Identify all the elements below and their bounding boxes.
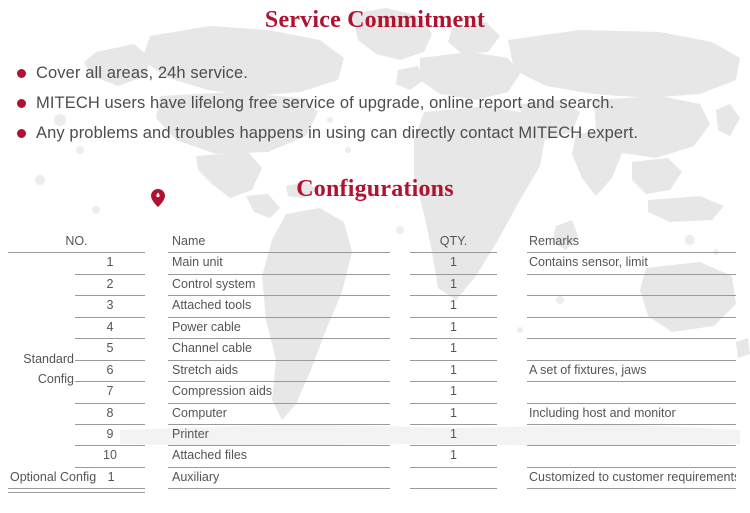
- cell-no: 4: [75, 318, 145, 339]
- cell-remarks: [527, 275, 736, 296]
- table-row-optional: Optional Config 1 Auxiliary Customized t…: [0, 468, 750, 489]
- cell-name: Attached files: [168, 446, 390, 467]
- cell-qty: 1: [410, 296, 497, 317]
- cell-name: Control system: [168, 275, 390, 296]
- standard-config-label: Standard Config: [4, 349, 74, 389]
- cell-no: 5: [75, 339, 145, 360]
- cell-no: 6: [75, 361, 145, 382]
- table-row: 9 Printer 1: [0, 425, 750, 446]
- cell-qty: [410, 468, 497, 489]
- table-row: 3 Attached tools 1: [0, 296, 750, 317]
- cell-no: 9: [75, 425, 145, 446]
- cell-name: Printer: [168, 425, 390, 446]
- cell-qty: 1: [410, 425, 497, 446]
- cell-remarks: Customized to customer requirements: [527, 468, 736, 489]
- cell-remarks: [527, 339, 736, 360]
- cell-name: Power cable: [168, 318, 390, 339]
- configurations-table: NO. Name QTY. Remarks 1 Main unit 1 Cont…: [0, 232, 750, 493]
- page-content: Service Commitment Cover all areas, 24h …: [0, 0, 750, 513]
- column-header-no: NO.: [8, 232, 145, 253]
- commitment-list: Cover all areas, 24h service. MITECH use…: [0, 58, 750, 148]
- commitment-text: MITECH users have lifelong free service …: [36, 94, 614, 113]
- table-header-row: NO. Name QTY. Remarks: [0, 232, 750, 253]
- table-row: 7 Compression aids 1: [0, 382, 750, 403]
- cell-no: 1: [75, 253, 145, 274]
- bullet-dot-icon: [17, 69, 26, 78]
- table-row: 1 Main unit 1 Contains sensor, limit: [0, 253, 750, 274]
- cell-name: Stretch aids: [168, 361, 390, 382]
- cell-remarks: [527, 382, 736, 403]
- cell-qty: 1: [410, 339, 497, 360]
- cell-qty: 1: [410, 361, 497, 382]
- list-item: MITECH users have lifelong free service …: [0, 88, 750, 118]
- cell-no: 3: [75, 296, 145, 317]
- cell-qty: 1: [410, 404, 497, 425]
- optional-config-label: Optional Config: [10, 470, 96, 484]
- list-item: Cover all areas, 24h service.: [0, 58, 750, 88]
- cell-no: 7: [75, 382, 145, 403]
- commitment-text: Any problems and troubles happens in usi…: [36, 124, 638, 143]
- table-bottom-rule: [8, 489, 145, 493]
- cell-no: 10: [75, 446, 145, 467]
- table-row: 4 Power cable 1: [0, 318, 750, 339]
- cell-remarks: [527, 318, 736, 339]
- list-item: Any problems and troubles happens in usi…: [0, 118, 750, 148]
- bullet-dot-icon: [17, 129, 26, 138]
- cell-no: 2: [75, 275, 145, 296]
- table-row: 8 Computer 1 Including host and monitor: [0, 404, 750, 425]
- cell-name: Main unit: [168, 253, 390, 274]
- cell-remarks: [527, 446, 736, 467]
- cell-qty: 1: [410, 275, 497, 296]
- cell-remarks: Contains sensor, limit: [527, 253, 736, 274]
- cell-remarks: [527, 425, 736, 446]
- bullet-dot-icon: [17, 99, 26, 108]
- cell-name: Computer: [168, 404, 390, 425]
- cell-qty: 1: [410, 446, 497, 467]
- table-footer-rule-row: [0, 489, 750, 493]
- cell-no: 1: [108, 470, 115, 484]
- cell-remarks: A set of fixtures, jaws: [527, 361, 736, 382]
- table-row: 5 Channel cable 1: [0, 339, 750, 360]
- cell-name: Channel cable: [168, 339, 390, 360]
- table-row: 10 Attached files 1: [0, 446, 750, 467]
- cell-qty: 1: [410, 253, 497, 274]
- standard-config-label-line1: Standard: [4, 349, 74, 369]
- service-commitment-title: Service Commitment: [0, 6, 750, 34]
- cell-qty: 1: [410, 318, 497, 339]
- optional-config-label-cell: Optional Config 1: [8, 468, 145, 489]
- cell-name: Attached tools: [168, 296, 390, 317]
- cell-remarks: [527, 296, 736, 317]
- column-header-qty: QTY.: [410, 232, 497, 253]
- commitment-text: Cover all areas, 24h service.: [36, 64, 248, 83]
- cell-no: 8: [75, 404, 145, 425]
- map-pin-icon: [151, 189, 165, 207]
- cell-remarks: Including host and monitor: [527, 404, 736, 425]
- column-header-remarks: Remarks: [527, 232, 736, 253]
- standard-config-label-line2: Config: [4, 369, 74, 389]
- configurations-title: Configurations: [0, 175, 750, 203]
- cell-name: Compression aids: [168, 382, 390, 403]
- table-row: 6 Stretch aids 1 A set of fixtures, jaws: [0, 361, 750, 382]
- cell-name: Auxiliary: [168, 468, 390, 489]
- table-row: 2 Control system 1: [0, 275, 750, 296]
- column-header-name: Name: [168, 232, 390, 253]
- cell-qty: 1: [410, 382, 497, 403]
